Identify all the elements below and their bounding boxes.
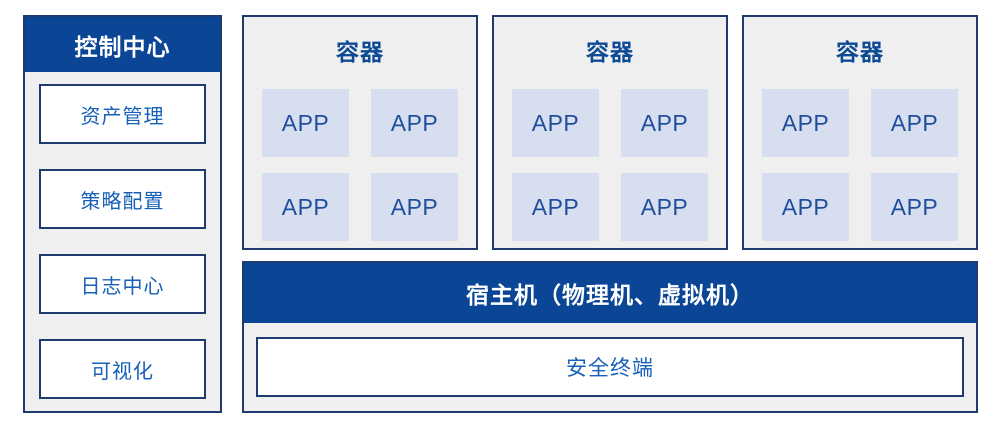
container-title: 容器 [244, 33, 476, 67]
sidebar-item-label: 策略配置 [81, 185, 165, 214]
container-box-1: 容器 APP APP APP APP [242, 15, 478, 250]
security-terminal-box[interactable]: 安全终端 [256, 337, 964, 397]
app-box[interactable]: APP [621, 89, 708, 157]
app-box[interactable]: APP [762, 89, 849, 157]
host-machine-header: 宿主机（物理机、虚拟机） [244, 263, 976, 323]
control-center-header: 控制中心 [25, 17, 220, 72]
app-box[interactable]: APP [371, 173, 458, 241]
app-box[interactable]: APP [871, 89, 958, 157]
control-center-panel: 控制中心 资产管理 策略配置 日志中心 可视化 [23, 15, 222, 413]
sidebar-item-log-center[interactable]: 日志中心 [39, 254, 206, 314]
container-box-3: 容器 APP APP APP APP [742, 15, 978, 250]
control-center-item-list: 资产管理 策略配置 日志中心 可视化 [25, 72, 220, 411]
right-section: 容器 APP APP APP APP 容器 APP APP APP APP [242, 15, 978, 413]
sidebar-item-label: 日志中心 [81, 270, 165, 299]
app-box[interactable]: APP [871, 173, 958, 241]
app-box[interactable]: APP [262, 173, 349, 241]
sidebar-item-asset-management[interactable]: 资产管理 [39, 84, 206, 144]
app-box[interactable]: APP [512, 173, 599, 241]
app-box[interactable]: APP [371, 89, 458, 157]
sidebar-item-label: 资产管理 [81, 100, 165, 129]
app-box[interactable]: APP [262, 89, 349, 157]
app-grid: APP APP APP APP [494, 89, 726, 241]
container-title: 容器 [494, 33, 726, 67]
container-title: 容器 [744, 33, 976, 67]
app-box[interactable]: APP [762, 173, 849, 241]
app-grid: APP APP APP APP [244, 89, 476, 241]
app-grid: APP APP APP APP [744, 89, 976, 241]
container-box-2: 容器 APP APP APP APP [492, 15, 728, 250]
app-box[interactable]: APP [621, 173, 708, 241]
sidebar-item-policy-config[interactable]: 策略配置 [39, 169, 206, 229]
sidebar-item-label: 可视化 [91, 355, 154, 384]
host-machine-body: 安全终端 [244, 323, 976, 411]
sidebar-item-visualization[interactable]: 可视化 [39, 339, 206, 399]
architecture-diagram: 控制中心 资产管理 策略配置 日志中心 可视化 容器 APP APP [0, 0, 1001, 437]
app-box[interactable]: APP [512, 89, 599, 157]
host-machine-panel: 宿主机（物理机、虚拟机） 安全终端 [242, 261, 978, 413]
container-row: 容器 APP APP APP APP 容器 APP APP APP APP [242, 15, 978, 250]
